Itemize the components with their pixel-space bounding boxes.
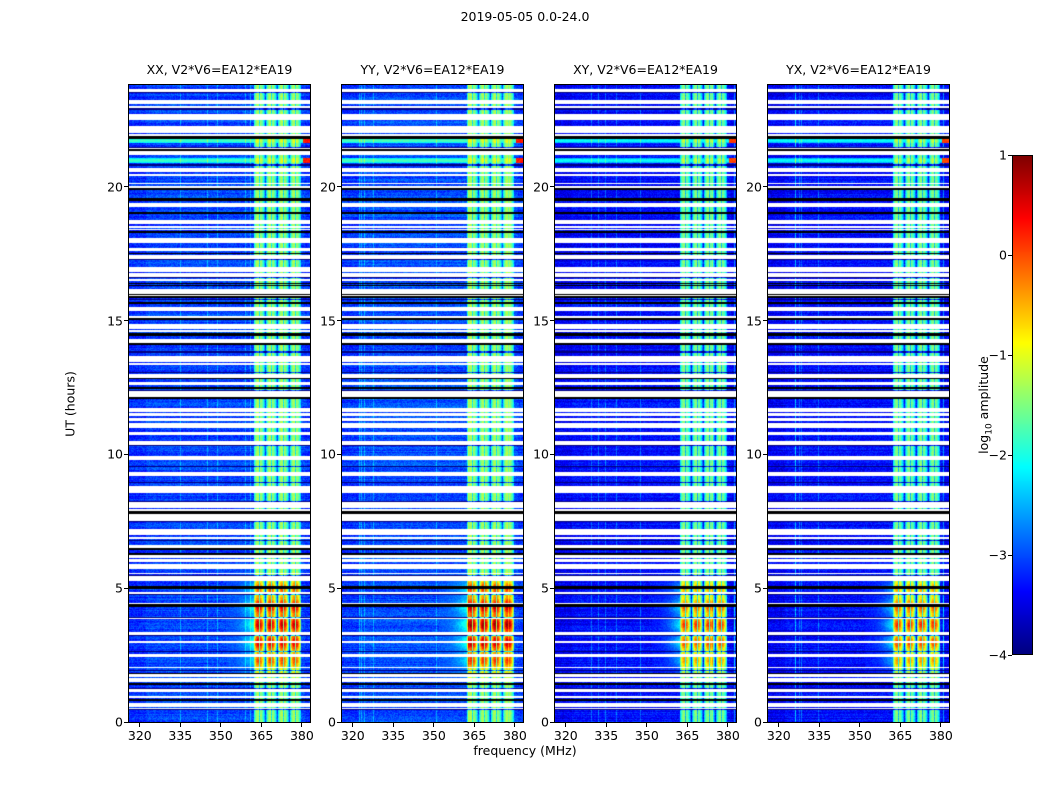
colorbar-tick-mark	[1008, 155, 1012, 156]
colorbar-label-sub: 10	[984, 423, 994, 434]
y-tick-label: 15	[311, 313, 336, 328]
colorbar-tick-label: 1	[999, 148, 1007, 163]
y-tick-mark	[763, 454, 767, 455]
y-tick-label: 20	[311, 179, 336, 194]
y-tick-mark	[550, 186, 554, 187]
waterfall-panel-xx[interactable]: XX, V2*V6=EA12*EA19	[128, 84, 311, 723]
x-tick-mark	[900, 723, 901, 727]
y-tick-mark	[550, 722, 554, 723]
x-tick-label: 335	[168, 728, 192, 743]
colorbar-tick-mark	[1008, 455, 1012, 456]
x-tick-label: 320	[341, 728, 365, 743]
colorbar-label-base: log	[976, 435, 991, 454]
y-tick-label: 5	[98, 581, 123, 596]
panel-frame	[554, 84, 737, 723]
y-tick-mark	[337, 722, 341, 723]
y-tick-label: 10	[98, 447, 123, 462]
panel-title: XX, V2*V6=EA12*EA19	[128, 62, 311, 77]
colorbar-label-tail: amplitude	[976, 356, 991, 423]
x-tick-mark	[220, 723, 221, 727]
colorbar	[1012, 155, 1033, 655]
colorbar-tick-mark	[1008, 555, 1012, 556]
y-tick-label: 15	[524, 313, 549, 328]
x-tick-label: 320	[554, 728, 578, 743]
x-tick-label: 335	[381, 728, 405, 743]
x-tick-label: 380	[929, 728, 953, 743]
x-tick-mark	[514, 723, 515, 727]
y-tick-label: 0	[98, 715, 123, 730]
panel-title: XY, V2*V6=EA12*EA19	[554, 62, 737, 77]
y-tick-label: 10	[737, 447, 762, 462]
x-tick-label: 350	[209, 728, 233, 743]
y-tick-mark	[337, 186, 341, 187]
y-tick-mark	[337, 588, 341, 589]
y-tick-mark	[550, 454, 554, 455]
x-tick-label: 320	[767, 728, 791, 743]
y-tick-mark	[337, 320, 341, 321]
x-tick-mark	[474, 723, 475, 727]
figure-canvas: 2019-05-05 0.0-24.0 XX, V2*V6=EA12*EA19Y…	[0, 0, 1050, 800]
x-tick-mark	[180, 723, 181, 727]
x-tick-label: 350	[635, 728, 659, 743]
y-tick-mark	[763, 588, 767, 589]
colorbar-tick-label: −3	[989, 548, 1007, 563]
x-tick-label: 335	[594, 728, 618, 743]
x-tick-mark	[778, 723, 779, 727]
x-tick-label: 350	[848, 728, 872, 743]
waterfall-panel-yx[interactable]: YX, V2*V6=EA12*EA19	[767, 84, 950, 723]
y-tick-label: 20	[737, 179, 762, 194]
y-tick-mark	[763, 320, 767, 321]
colorbar-label: log10 amplitude	[976, 356, 995, 454]
x-tick-mark	[859, 723, 860, 727]
y-tick-label: 10	[524, 447, 549, 462]
x-tick-mark	[940, 723, 941, 727]
colorbar-tick-label: −4	[989, 648, 1007, 663]
x-tick-mark	[646, 723, 647, 727]
x-tick-mark	[433, 723, 434, 727]
x-tick-label: 365	[675, 728, 699, 743]
y-tick-label: 0	[311, 715, 336, 730]
colorbar-gradient	[1013, 156, 1032, 654]
x-tick-mark	[565, 723, 566, 727]
y-tick-label: 15	[98, 313, 123, 328]
y-tick-mark	[763, 186, 767, 187]
panel-title: YX, V2*V6=EA12*EA19	[767, 62, 950, 77]
x-tick-mark	[819, 723, 820, 727]
x-tick-mark	[727, 723, 728, 727]
x-tick-mark	[301, 723, 302, 727]
x-tick-label: 365	[888, 728, 912, 743]
y-tick-mark	[550, 320, 554, 321]
y-tick-label: 0	[524, 715, 549, 730]
x-tick-label: 365	[249, 728, 273, 743]
panel-frame	[128, 84, 311, 723]
x-tick-label: 380	[290, 728, 314, 743]
x-tick-label: 380	[503, 728, 527, 743]
colorbar-tick-label: 0	[999, 248, 1007, 263]
y-tick-mark	[124, 722, 128, 723]
y-tick-label: 20	[98, 179, 123, 194]
y-tick-mark	[550, 588, 554, 589]
x-tick-mark	[606, 723, 607, 727]
y-tick-label: 0	[737, 715, 762, 730]
y-tick-mark	[763, 722, 767, 723]
x-tick-mark	[393, 723, 394, 727]
x-tick-label: 365	[462, 728, 486, 743]
panel-frame	[767, 84, 950, 723]
y-tick-label: 20	[524, 179, 549, 194]
y-tick-mark	[124, 454, 128, 455]
y-tick-label: 10	[311, 447, 336, 462]
y-tick-label: 5	[311, 581, 336, 596]
y-tick-mark	[124, 320, 128, 321]
y-tick-mark	[124, 588, 128, 589]
x-tick-mark	[687, 723, 688, 727]
waterfall-panel-yy[interactable]: YY, V2*V6=EA12*EA19	[341, 84, 524, 723]
y-axis-label: UT (hours)	[63, 371, 78, 437]
x-tick-label: 320	[128, 728, 152, 743]
x-tick-mark	[261, 723, 262, 727]
x-tick-mark	[139, 723, 140, 727]
y-tick-label: 5	[524, 581, 549, 596]
y-tick-label: 15	[737, 313, 762, 328]
panel-title: YY, V2*V6=EA12*EA19	[341, 62, 524, 77]
y-tick-label: 5	[737, 581, 762, 596]
x-tick-label: 335	[807, 728, 831, 743]
x-axis-label: frequency (MHz)	[0, 743, 1050, 758]
x-tick-label: 350	[422, 728, 446, 743]
colorbar-tick-mark	[1008, 655, 1012, 656]
y-tick-mark	[124, 186, 128, 187]
x-tick-label: 380	[716, 728, 740, 743]
panel-frame	[341, 84, 524, 723]
waterfall-panel-xy[interactable]: XY, V2*V6=EA12*EA19	[554, 84, 737, 723]
colorbar-tick-mark	[1008, 255, 1012, 256]
colorbar-tick-mark	[1008, 355, 1012, 356]
x-tick-mark	[352, 723, 353, 727]
y-tick-mark	[337, 454, 341, 455]
figure-suptitle: 2019-05-05 0.0-24.0	[0, 9, 1050, 24]
